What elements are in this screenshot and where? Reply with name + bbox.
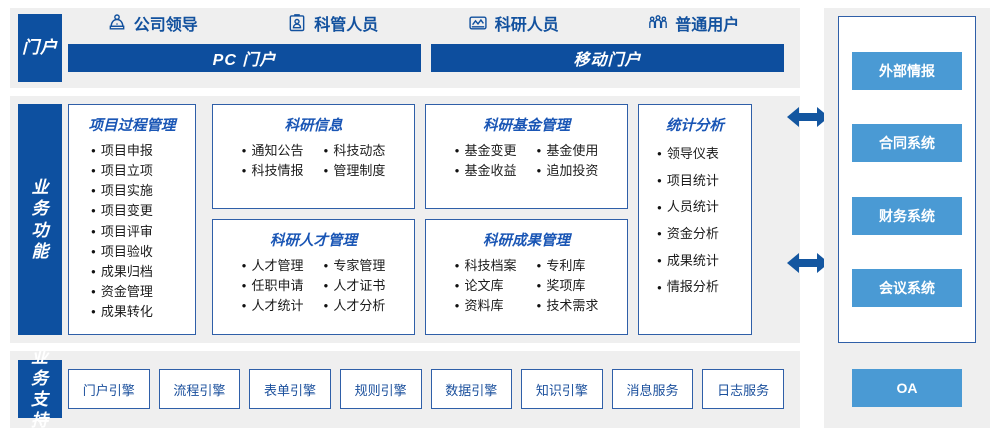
function-item: 基金使用 <box>537 141 599 161</box>
function-item-label: 管理制度 <box>333 161 385 181</box>
function-item: 人才统计 <box>242 296 304 316</box>
function-item: 管理制度 <box>324 161 386 181</box>
function-item-label: 成果统计 <box>667 248 719 275</box>
function-item: 人员统计 <box>657 194 751 221</box>
engine-chip-message[interactable]: 消息服务 <box>612 369 694 409</box>
function-item-label: 资料库 <box>464 296 503 316</box>
function-item-label: 基金使用 <box>546 141 598 161</box>
function-item: 专家管理 <box>324 256 386 276</box>
band-label-portal: 门户 <box>18 14 62 82</box>
function-box-research-info[interactable]: 科研信息 通知公告 科技情报 科技动态 管理制度 <box>212 104 415 209</box>
external-system-label: 会议系统 <box>879 278 935 298</box>
function-box-title: 科研基金管理 <box>426 114 627 135</box>
function-item: 项目变更 <box>91 201 195 221</box>
function-item-label: 基金变更 <box>464 141 516 161</box>
function-box-research-fund[interactable]: 科研基金管理 基金变更 基金收益 基金使用 追加投资 <box>425 104 628 209</box>
function-item: 基金收益 <box>455 161 517 181</box>
function-item-label: 领导仪表 <box>667 141 719 168</box>
function-box-statistics[interactable]: 统计分析 领导仪表 项目统计 人员统计 资金分析 成果统计 情报分析 <box>638 104 752 335</box>
function-item-list: 项目申报 项目立项 项目实施 项目变更 项目评审 项目验收 成果归档 资金管理 … <box>69 141 195 322</box>
function-item: 资金分析 <box>657 221 751 248</box>
function-item-column: 基金使用 追加投资 <box>537 141 599 181</box>
leader-icon <box>107 13 127 33</box>
function-item-label: 科技动态 <box>333 141 385 161</box>
function-box-title: 统计分析 <box>639 114 751 135</box>
function-item-column: 人才管理 任职申请 人才统计 <box>242 256 304 316</box>
external-system-label: 合同系统 <box>879 133 935 153</box>
function-item: 科技档案 <box>455 256 517 276</box>
function-item: 技术需求 <box>537 296 599 316</box>
function-item-label: 科技情报 <box>251 161 303 181</box>
engine-chip-rule[interactable]: 规则引擎 <box>340 369 422 409</box>
function-item: 奖项库 <box>537 276 599 296</box>
engine-chip-data[interactable]: 数据引擎 <box>431 369 513 409</box>
external-system-oa-label: OA <box>897 380 918 396</box>
function-box-project-process[interactable]: 项目过程管理 项目申报 项目立项 项目实施 项目变更 项目评审 项目验收 成果归… <box>68 104 196 335</box>
function-item-label: 项目立项 <box>101 161 153 181</box>
function-item: 项目验收 <box>91 242 195 262</box>
function-box-research-achievement[interactable]: 科研成果管理 科技档案 论文库 资料库 专利库 奖项库 技术需求 <box>425 219 628 335</box>
function-item: 项目统计 <box>657 168 751 195</box>
function-item-label: 情报分析 <box>667 274 719 301</box>
function-item-column: 通知公告 科技情报 <box>242 141 304 181</box>
band-label-business-support-text: 业务支持 <box>23 347 57 432</box>
function-item-column: 基金变更 基金收益 <box>455 141 517 181</box>
function-item: 项目实施 <box>91 181 195 201</box>
function-item-label: 人才分析 <box>333 296 385 316</box>
function-item-column: 专利库 奖项库 技术需求 <box>537 256 599 316</box>
function-box-title: 科研成果管理 <box>426 229 627 250</box>
badge-person-icon <box>287 13 307 33</box>
external-system-label: 财务系统 <box>879 206 935 226</box>
function-item: 项目立项 <box>91 161 195 181</box>
function-item-label: 项目评审 <box>101 222 153 242</box>
engine-chip-label: 数据引擎 <box>445 380 497 399</box>
function-item-label: 成果归档 <box>101 262 153 282</box>
function-item-label: 人才管理 <box>251 256 303 276</box>
function-box-title: 科研人才管理 <box>213 229 414 250</box>
function-item-list: 科技档案 论文库 资料库 专利库 奖项库 技术需求 <box>426 256 627 316</box>
function-item: 成果统计 <box>657 248 751 275</box>
function-item-label: 项目变更 <box>101 201 153 221</box>
function-item-label: 论文库 <box>464 276 503 296</box>
function-item-label: 项目统计 <box>667 168 719 195</box>
function-item-label: 通知公告 <box>251 141 303 161</box>
function-item-label: 项目验收 <box>101 242 153 262</box>
engine-row: 门户引擎 流程引擎 表单引擎 规则引擎 数据引擎 知识引擎 消息服务 日志服务 <box>68 369 784 409</box>
engine-chip-label: 表单引擎 <box>264 380 316 399</box>
function-item: 科技情报 <box>242 161 304 181</box>
band-label-business-function: 业务功能 <box>18 104 62 335</box>
external-system-oa[interactable]: OA <box>852 369 962 407</box>
function-item-label: 任职申请 <box>251 276 303 296</box>
portal-bars: PC 门户 移动门户 <box>68 44 784 72</box>
external-system-label: 外部情报 <box>879 61 935 81</box>
function-item-label: 专利库 <box>546 256 585 276</box>
band-label-portal-text: 门户 <box>22 37 58 58</box>
role-label: 科管人员 <box>314 11 378 35</box>
function-item-column: 专家管理 人才证书 人才分析 <box>324 256 386 316</box>
engine-chip-form[interactable]: 表单引擎 <box>249 369 331 409</box>
portal-bar-pc[interactable]: PC 门户 <box>68 44 421 72</box>
function-item-label: 人才统计 <box>251 296 303 316</box>
function-item-list: 人才管理 任职申请 人才统计 专家管理 人才证书 人才分析 <box>213 256 414 316</box>
function-item: 科技动态 <box>324 141 386 161</box>
function-item: 项目申报 <box>91 141 195 161</box>
function-item-label: 成果转化 <box>101 302 153 322</box>
external-system-contract[interactable]: 合同系统 <box>852 124 962 162</box>
function-item-list: 领导仪表 项目统计 人员统计 资金分析 成果统计 情报分析 <box>639 141 751 301</box>
function-item: 成果转化 <box>91 302 195 322</box>
function-item-list: 基金变更 基金收益 基金使用 追加投资 <box>426 141 627 181</box>
role-normal-user[interactable]: 普通用户 <box>648 11 739 35</box>
user-group-icon <box>648 13 668 33</box>
external-systems-box: 外部情报 合同系统 财务系统 会议系统 <box>838 16 976 343</box>
role-company-leader[interactable]: 公司领导 <box>107 11 198 35</box>
function-item: 人才管理 <box>242 256 304 276</box>
function-item-label: 人才证书 <box>333 276 385 296</box>
function-item-label: 追加投资 <box>546 161 598 181</box>
role-research-admin[interactable]: 科管人员 <box>287 11 378 35</box>
engine-chip-label: 规则引擎 <box>355 380 407 399</box>
role-label: 科研人员 <box>495 11 559 35</box>
engine-chip-workflow[interactable]: 流程引擎 <box>159 369 241 409</box>
function-item: 项目评审 <box>91 222 195 242</box>
function-item: 情报分析 <box>657 274 751 301</box>
function-item-label: 资金分析 <box>667 221 719 248</box>
function-item: 人才证书 <box>324 276 386 296</box>
function-item: 资金管理 <box>91 282 195 302</box>
role-researcher[interactable]: 科研人员 <box>468 11 559 35</box>
engine-chip-log[interactable]: 日志服务 <box>702 369 784 409</box>
external-system-finance[interactable]: 财务系统 <box>852 197 962 235</box>
portal-bar-mobile-label: 移动门户 <box>573 46 641 70</box>
function-item: 基金变更 <box>455 141 517 161</box>
engine-chip-label: 消息服务 <box>627 380 679 399</box>
function-item-label: 项目实施 <box>101 181 153 201</box>
function-item: 成果归档 <box>91 262 195 282</box>
function-box-research-talent[interactable]: 科研人才管理 人才管理 任职申请 人才统计 专家管理 人才证书 人才分析 <box>212 219 415 335</box>
function-item: 资料库 <box>455 296 517 316</box>
function-item-label: 项目申报 <box>101 141 153 161</box>
external-system-meeting[interactable]: 会议系统 <box>852 269 962 307</box>
function-item-label: 专家管理 <box>333 256 385 276</box>
role-row: 公司领导 科管人员 科研人员 <box>62 6 784 40</box>
function-box-title: 项目过程管理 <box>69 114 195 135</box>
function-item: 人才分析 <box>324 296 386 316</box>
engine-chip-knowledge[interactable]: 知识引擎 <box>521 369 603 409</box>
role-label: 公司领导 <box>134 11 198 35</box>
external-system-intelligence[interactable]: 外部情报 <box>852 52 962 90</box>
band-label-business-function-text: 业务功能 <box>32 177 49 262</box>
role-label: 普通用户 <box>675 11 739 35</box>
function-box-title: 科研信息 <box>213 114 414 135</box>
engine-chip-portal[interactable]: 门户引擎 <box>68 369 150 409</box>
architecture-diagram: 门户 公司领导 科管人员 <box>0 0 1000 436</box>
function-item-label: 奖项库 <box>546 276 585 296</box>
function-item-column: 科技档案 论文库 资料库 <box>455 256 517 316</box>
engine-chip-label: 流程引擎 <box>173 380 225 399</box>
band-label-business-support: 业务支持 <box>18 360 62 418</box>
function-item: 论文库 <box>455 276 517 296</box>
portal-bar-pc-label: PC 门户 <box>213 46 277 70</box>
function-item-label: 技术需求 <box>546 296 598 316</box>
engine-chip-label: 日志服务 <box>717 380 769 399</box>
engine-chip-label: 门户引擎 <box>83 380 135 399</box>
function-item: 通知公告 <box>242 141 304 161</box>
function-item-label: 资金管理 <box>101 282 153 302</box>
function-item: 专利库 <box>537 256 599 276</box>
function-item-list: 通知公告 科技情报 科技动态 管理制度 <box>213 141 414 181</box>
chart-monitor-icon <box>468 13 488 33</box>
function-item-label: 基金收益 <box>464 161 516 181</box>
engine-chip-label: 知识引擎 <box>536 380 588 399</box>
function-item: 领导仪表 <box>657 141 751 168</box>
function-item-label: 科技档案 <box>464 256 516 276</box>
portal-bar-mobile[interactable]: 移动门户 <box>431 44 784 72</box>
function-item-label: 人员统计 <box>667 194 719 221</box>
function-item-column: 科技动态 管理制度 <box>324 141 386 181</box>
function-item: 任职申请 <box>242 276 304 296</box>
function-item: 追加投资 <box>537 161 599 181</box>
